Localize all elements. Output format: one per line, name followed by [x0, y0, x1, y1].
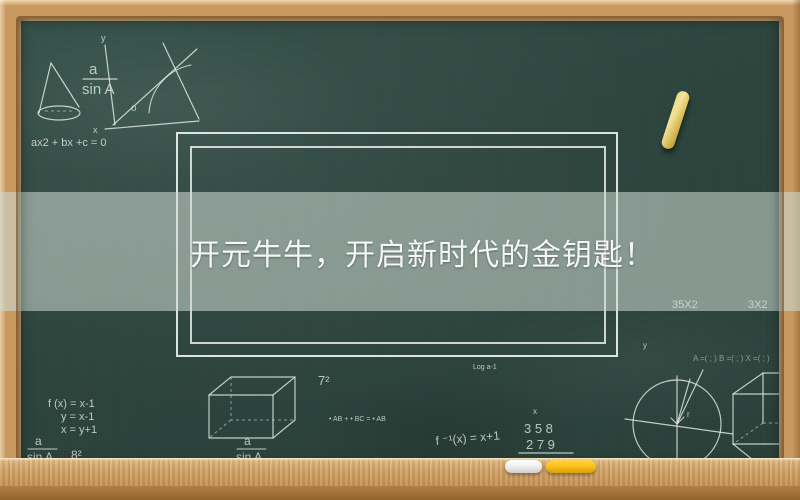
- chalkboard-banner-image: a sin A ax2 + bx +c = 0 y x o 35X2: [0, 0, 800, 500]
- white-chalk-stick: [505, 460, 542, 473]
- frame-inner-shadow: [18, 18, 782, 466]
- ledge-underside: [0, 486, 800, 500]
- yellow-chalk-stick-on-ledge: [546, 460, 596, 473]
- frame-top-bevel: [0, 0, 800, 6]
- ledge-highlight: [0, 458, 800, 461]
